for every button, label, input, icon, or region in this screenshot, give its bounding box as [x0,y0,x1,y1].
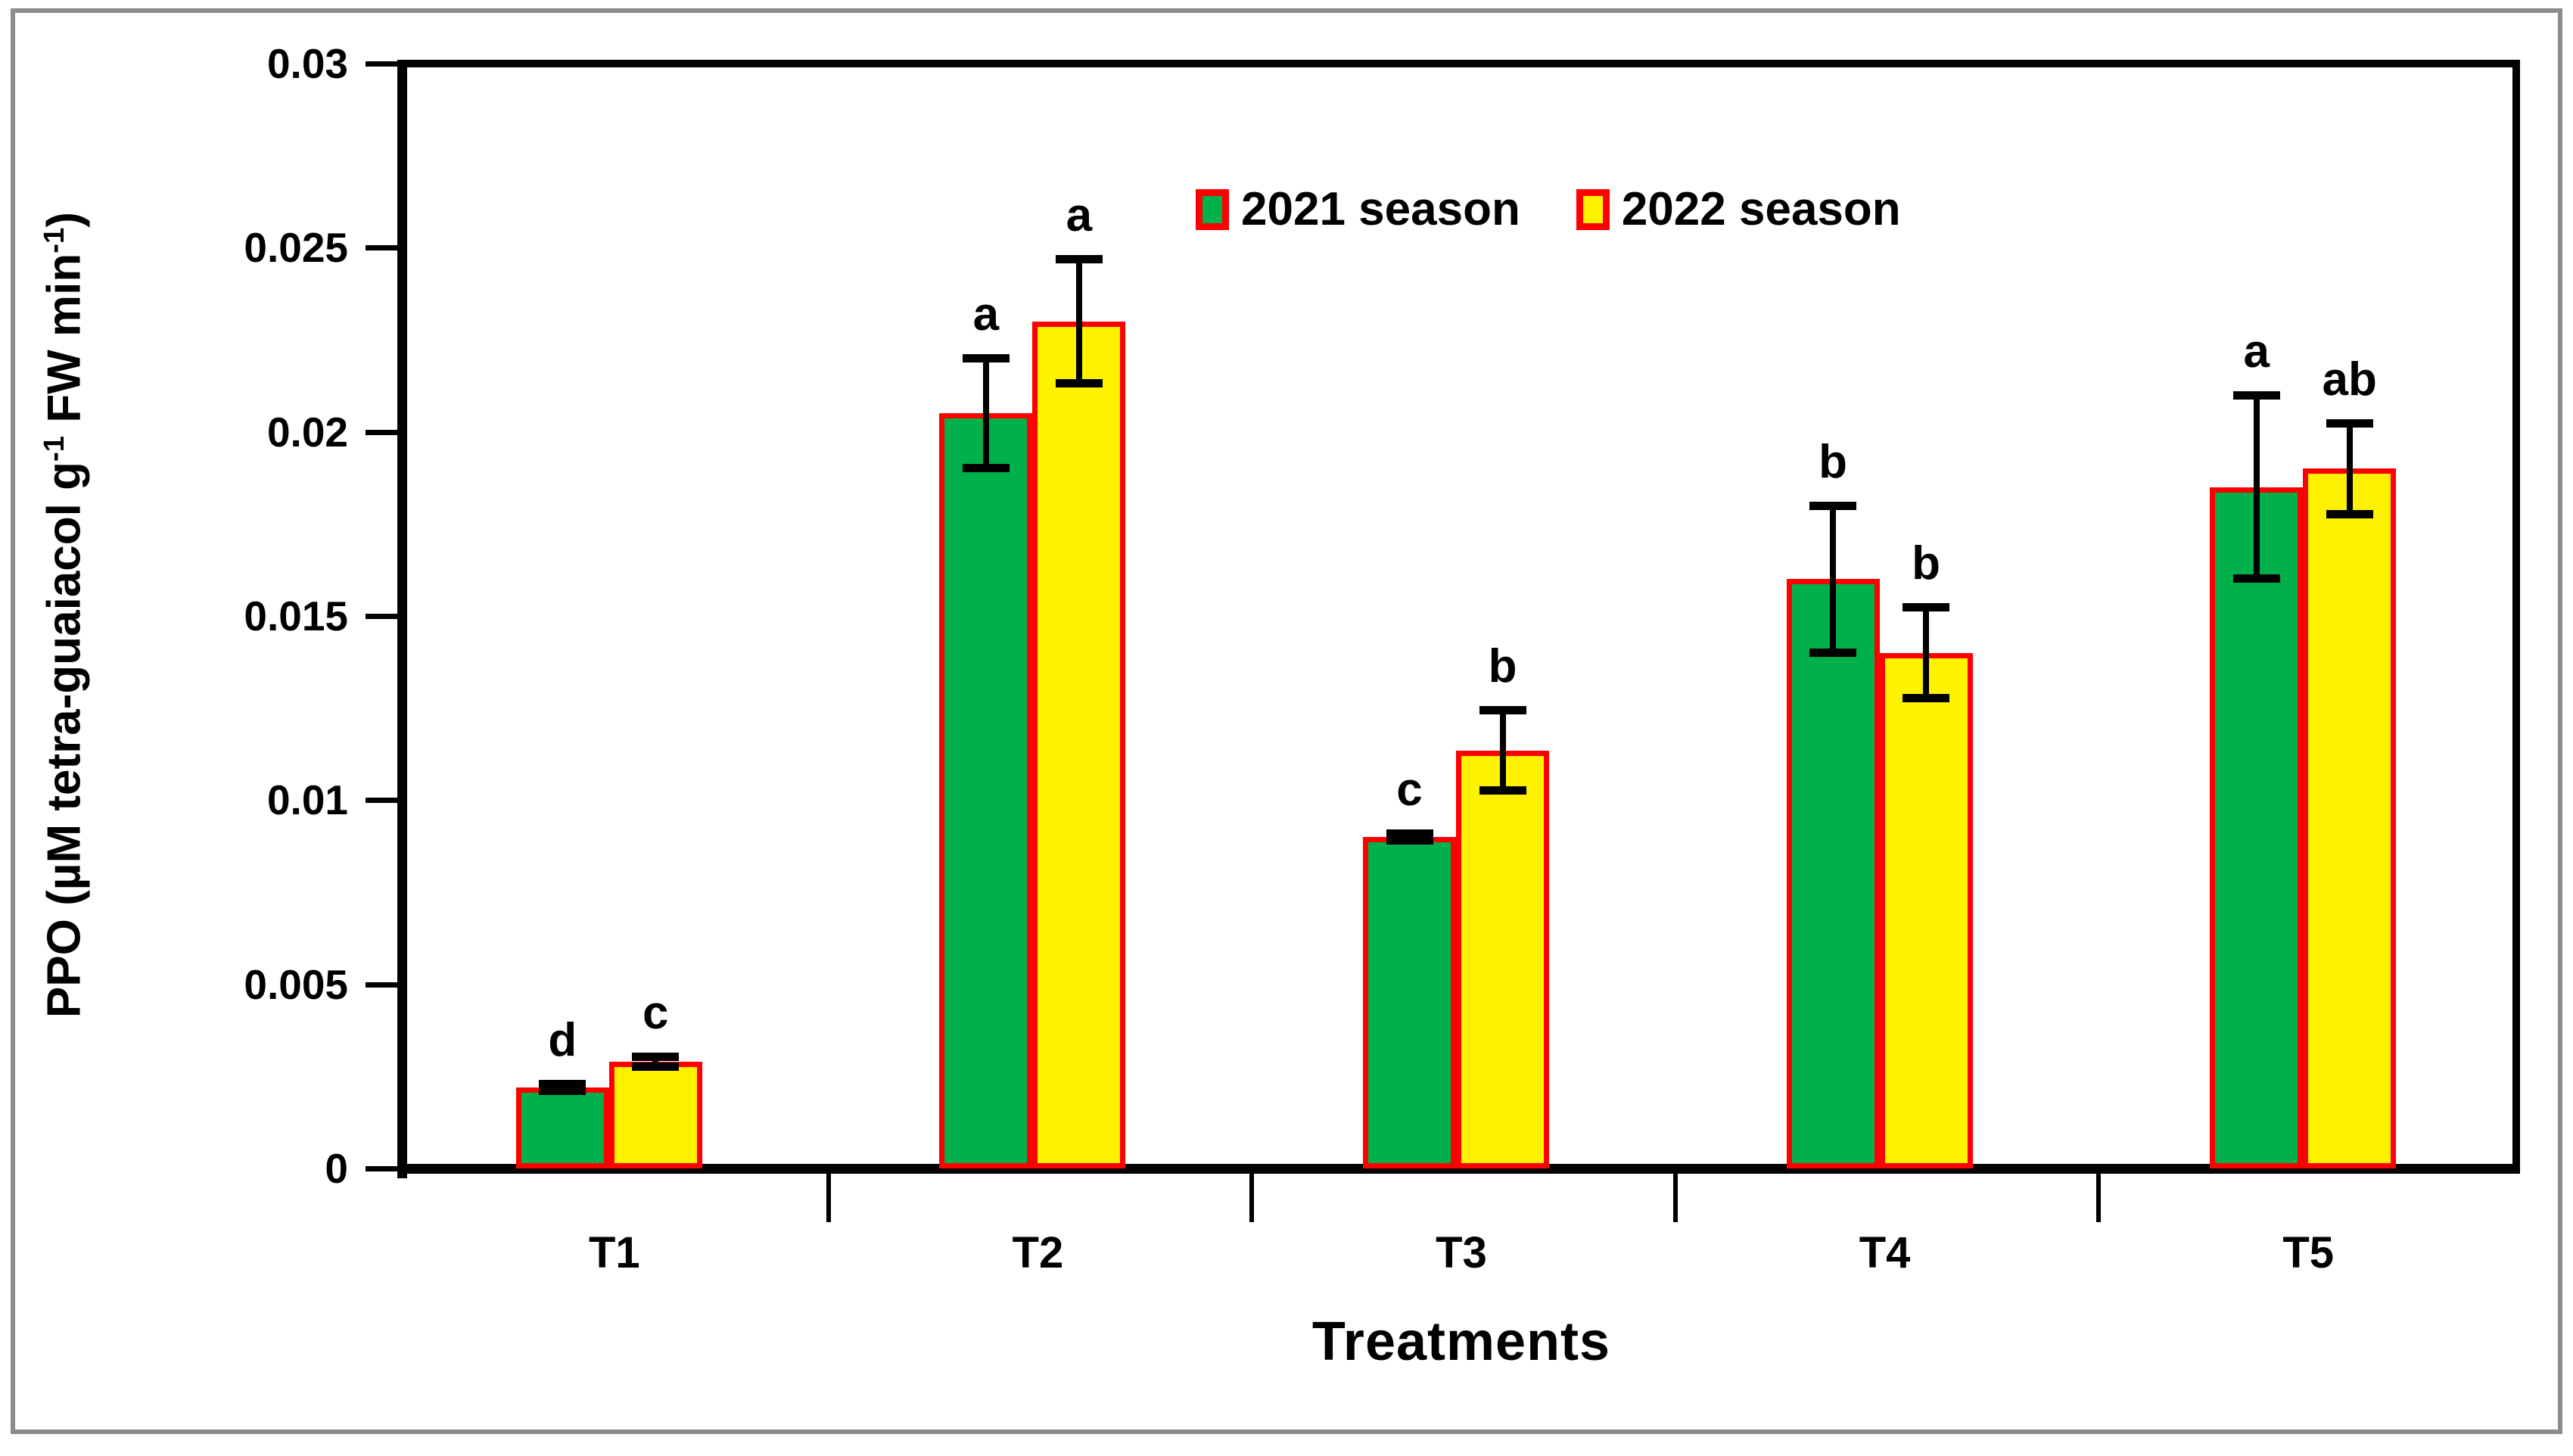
error-bar-cap-top [2233,391,2280,400]
error-bar-cap-top [1809,502,1856,510]
y-axis-title: PPO (µM tetra-guaiacol g-1 FW min-1) [38,78,92,1153]
x-axis-tick-label-t4: T4 [1859,1227,1911,1278]
bar-t4-2021 [1787,579,1880,1168]
error-bar-stem [1076,255,1082,387]
legend-item-2021[interactable]: 2021 season [1196,182,1520,236]
error-bar-t4-2021 [1787,502,1880,656]
error-bar-cap-top [1479,706,1526,714]
y-axis-tick [366,1166,400,1171]
significance-letter-t2-2022: a [1066,188,1092,242]
error-bar-t1-2021 [516,1080,609,1094]
legend-swatch-2021-icon [1196,189,1229,230]
bar-t1-2021 [516,1087,609,1168]
error-bar-t3-2022 [1456,706,1549,795]
error-bar-stem [2254,391,2260,583]
error-bar-stem [1500,706,1506,795]
error-bar-stem [1923,603,1929,702]
y-axis-tick [366,614,400,619]
error-bar-cap-bottom [632,1062,679,1071]
significance-letter-t4-2021: b [1819,435,1847,489]
legend-label-2021: 2021 season [1241,182,1520,236]
y-axis-tick [366,61,400,67]
x-axis-separator [1673,1174,1678,1222]
y-axis-tick [366,982,400,988]
x-axis-separator [826,1174,831,1222]
error-bar-cap-bottom [1056,379,1103,387]
x-axis-tick-label-t2: T2 [1013,1227,1064,1278]
significance-letter-t1-2021: d [548,1013,577,1067]
y-axis-tick [366,798,400,803]
error-bar-cap-bottom [1386,836,1433,845]
figure-frame: 00.0050.010.0150.020.0250.03 dcaacbbbaab… [11,8,2562,1434]
error-bar-cap-bottom [1479,786,1526,795]
error-bar-cap-top [963,354,1010,362]
bar-t3-2022 [1456,751,1549,1168]
error-bar-t2-2022 [1032,255,1125,387]
error-bar-cap-top [1056,255,1103,263]
error-bar-cap-top [1903,603,1949,611]
error-bar-t2-2021 [939,354,1032,472]
bar-t2-2022 [1032,322,1125,1168]
error-bar-cap-top [2326,419,2373,428]
error-bar-cap-top [632,1053,679,1061]
bar-t5-2022 [2303,468,2396,1168]
x-axis-tick-label-t3: T3 [1436,1227,1487,1278]
significance-letter-t5-2021: a [2243,325,2269,378]
error-bar-cap-bottom [539,1087,586,1095]
x-axis-title: Treatments [403,1311,2520,1373]
error-bar-t5-2021 [2210,391,2303,583]
error-bar-cap-bottom [2233,574,2280,583]
error-bar-cap-bottom [1903,694,1949,702]
error-bar-stem [983,354,989,472]
error-bar-cap-bottom [2326,510,2373,518]
error-bar-cap-bottom [1809,649,1856,657]
error-bar-t5-2022 [2303,419,2396,518]
error-bar-t1-2022 [609,1053,702,1071]
chart-legend: 2021 season 2022 season [1196,182,1901,236]
chart-page: 00.0050.010.0150.020.0250.03 dcaacbbbaab… [0,0,2573,1443]
significance-letter-t1-2022: c [642,986,668,1040]
error-bar-t4-2022 [1880,603,1973,702]
x-axis-separator [1249,1174,1254,1222]
significance-letter-t3-2021: c [1396,763,1422,817]
error-bar-t3-2021 [1363,829,1456,844]
bar-t5-2021 [2210,487,2303,1168]
significance-letter-t2-2021: a [973,288,999,341]
significance-letter-t5-2022: ab [2323,353,2377,406]
x-axis-separator [2096,1174,2101,1222]
bar-t4-2022 [1880,653,1973,1168]
error-bar-cap-bottom [963,464,1010,472]
significance-letter-t4-2022: b [1912,537,1940,590]
legend-item-2022[interactable]: 2022 season [1576,182,1901,236]
x-axis-tick-label-t5: T5 [2282,1227,2334,1278]
bar-t3-2021 [1363,837,1456,1168]
x-axis-tick-label-t1: T1 [589,1227,640,1278]
error-bar-stem [2347,419,2353,518]
error-bar-stem [1830,502,1836,656]
y-axis-tick [366,430,400,435]
bar-t1-2022 [609,1062,702,1168]
legend-label-2022: 2022 season [1622,182,1901,236]
y-axis-tick [366,245,400,250]
bar-t2-2021 [939,413,1032,1168]
significance-letter-t3-2022: b [1489,639,1517,693]
legend-swatch-2022-icon [1576,189,1610,230]
